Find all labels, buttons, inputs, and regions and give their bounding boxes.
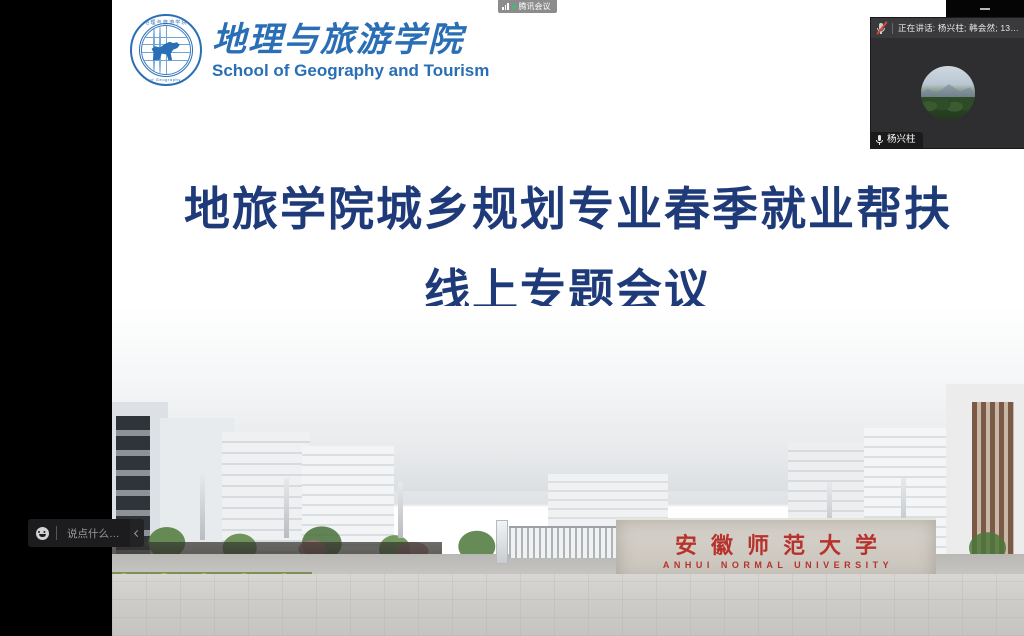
emblem-ring-text-top: 地理与旅游学院 <box>132 19 200 26</box>
participant-video-tile[interactable]: 正在讲话: 杨兴柱; 韩会然; 136*… 杨兴柱 <box>871 18 1024 148</box>
plaza-pavement <box>112 574 1024 636</box>
chat-bar[interactable]: 说点什么… <box>28 519 144 547</box>
speaking-status-bar: 正在讲话: 杨兴柱; 韩会然; 136*… <box>871 18 1024 38</box>
avatar <box>921 66 975 120</box>
lamp-post <box>398 482 403 538</box>
chat-input[interactable]: 说点什么… <box>57 519 130 547</box>
divider <box>892 23 893 34</box>
tencent-meeting-tab-label: 腾讯会议 <box>519 0 551 13</box>
window-controls <box>946 0 1024 18</box>
wall-text-cn: 安徽师范大学 <box>616 528 936 560</box>
signal-bars-icon <box>502 3 509 10</box>
status-dot-icon <box>512 5 516 9</box>
minimize-button[interactable] <box>974 1 996 17</box>
speaker-name-badge: 杨兴柱 <box>871 132 923 148</box>
video-area: 杨兴柱 <box>871 38 1024 148</box>
slide-title-line-1: 地旅学院城乡规划专业春季就业帮扶 <box>112 168 1024 250</box>
emoji-smiley-icon[interactable] <box>28 519 56 547</box>
gate-post <box>496 520 508 564</box>
school-name-cn: 地理与旅游学院 <box>212 20 489 60</box>
lamp-post <box>200 474 205 540</box>
screen-root: 地理与旅游学院 School of Geography and Tourism … <box>0 0 1024 636</box>
wall-text-en: ANHUI NORMAL UNIVERSITY <box>616 560 936 570</box>
school-name-en: School of Geography and Tourism <box>212 61 489 81</box>
tencent-meeting-tab[interactable]: 腾讯会议 <box>498 0 557 13</box>
speaker-name: 杨兴柱 <box>887 134 916 146</box>
campus-gate <box>509 526 627 558</box>
campus-photo: 安徽师范大学 ANHUI NORMAL UNIVERSITY <box>112 306 1024 636</box>
speaking-status-text: 正在讲话: 杨兴柱; 韩会然; 136*… <box>898 18 1020 38</box>
chevron-left-icon[interactable] <box>130 519 144 547</box>
emblem-ring-text-bottom: School of Geography and Tourism <box>132 77 200 82</box>
microphone-muted-icon[interactable] <box>875 21 887 35</box>
microphone-icon <box>875 135 884 146</box>
lamp-post <box>284 478 289 538</box>
school-emblem-icon: 地理与旅游学院 School of Geography and Tourism <box>130 14 202 86</box>
school-logo: 地理与旅游学院 School of Geography and Tourism … <box>130 14 489 86</box>
